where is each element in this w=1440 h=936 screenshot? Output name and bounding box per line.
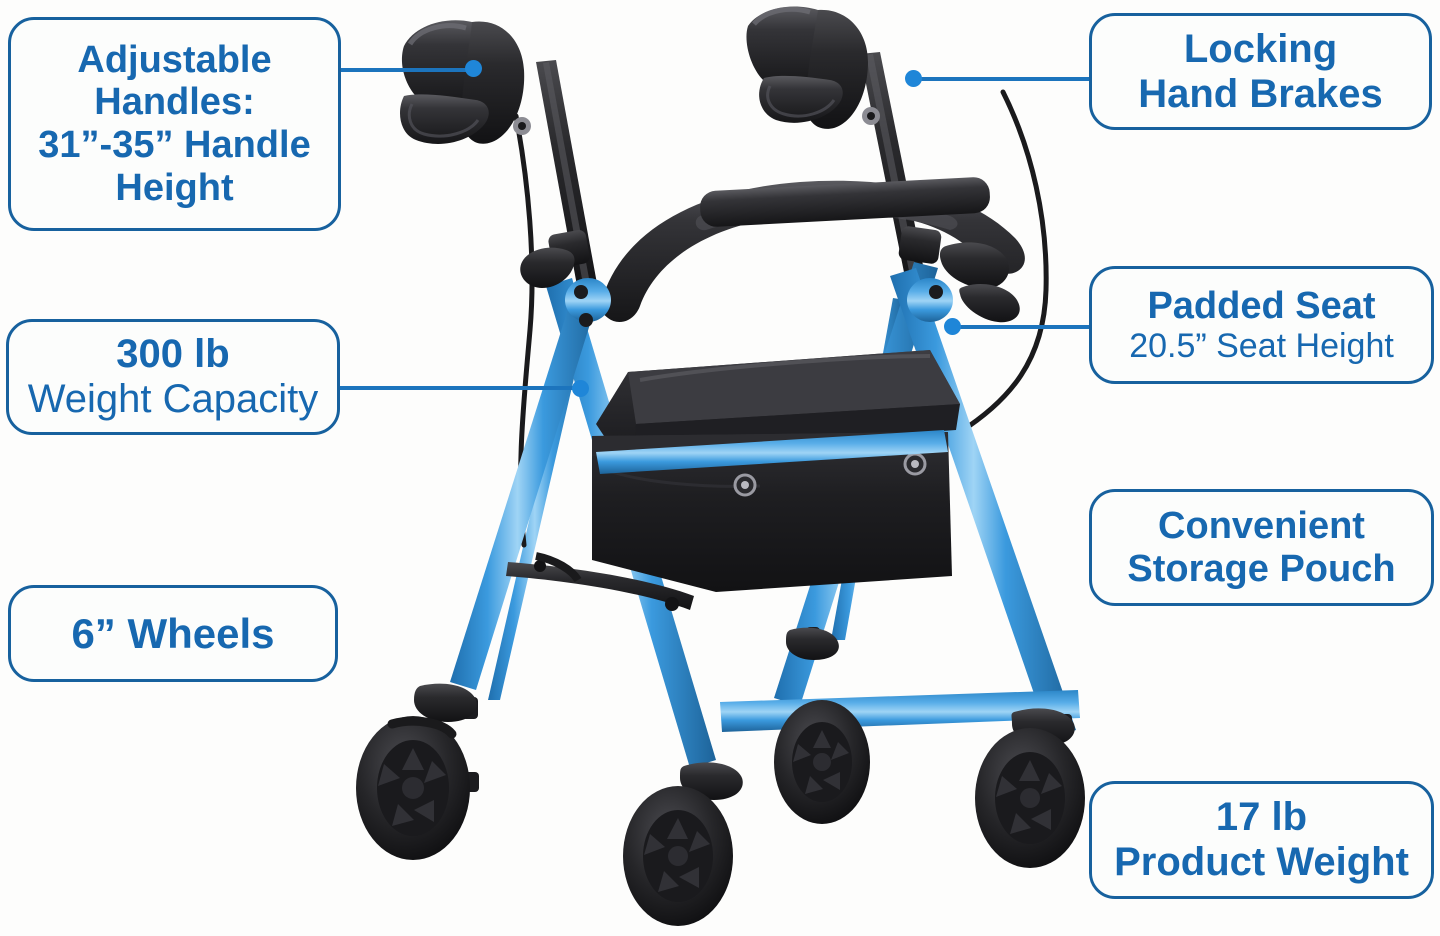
callout-locking-hand-brakes[interactable]: Locking Hand Brakes (1089, 13, 1432, 130)
callout-padded-seat[interactable]: Padded Seat 20.5” Seat Height (1089, 266, 1434, 384)
callout-line: 6” Wheels (71, 610, 274, 657)
callout-line: Handles: (94, 81, 254, 124)
leader-dot-handles (465, 60, 482, 77)
leader-dot-weight-capacity (572, 380, 589, 397)
leader-line-handles (341, 68, 471, 72)
callout-line: Storage Pouch (1127, 548, 1395, 591)
wheel-front-right (623, 762, 743, 926)
callout-line: 300 lb (116, 332, 229, 377)
callout-line: Locking (1184, 27, 1337, 72)
callout-adjustable-handles[interactable]: Adjustable Handles: 31”-35” Handle Heigh… (8, 17, 341, 231)
callout-line: Weight Capacity (28, 377, 319, 422)
leader-line-weight-capacity (340, 386, 582, 390)
leader-line-padded-seat (952, 325, 1091, 329)
callout-line: Height (115, 167, 233, 210)
callout-storage-pouch[interactable]: Convenient Storage Pouch (1089, 489, 1434, 606)
callout-line: 31”-35” Handle (38, 124, 310, 167)
leader-line-hand-brakes (913, 77, 1091, 81)
callout-line: Hand Brakes (1138, 72, 1383, 117)
infographic-canvas: Adjustable Handles: 31”-35” Handle Heigh… (0, 0, 1440, 936)
callout-line: Adjustable (77, 39, 271, 82)
leader-dot-padded-seat (944, 318, 961, 335)
callout-line: Product Weight (1114, 840, 1409, 885)
leader-dot-hand-brakes (905, 70, 922, 87)
handle-post-right (860, 52, 942, 302)
callout-line: Convenient (1158, 505, 1365, 548)
callout-wheels[interactable]: 6” Wheels (8, 585, 338, 682)
callout-product-weight[interactable]: 17 lb Product Weight (1089, 781, 1434, 899)
callout-line: Padded Seat (1147, 285, 1375, 328)
wheel-front-left (356, 684, 477, 860)
callout-weight-capacity[interactable]: 300 lb Weight Capacity (6, 319, 340, 435)
callout-line: 20.5” Seat Height (1129, 327, 1394, 365)
wheel-rear-right (975, 708, 1085, 868)
callout-line: 17 lb (1216, 795, 1307, 840)
